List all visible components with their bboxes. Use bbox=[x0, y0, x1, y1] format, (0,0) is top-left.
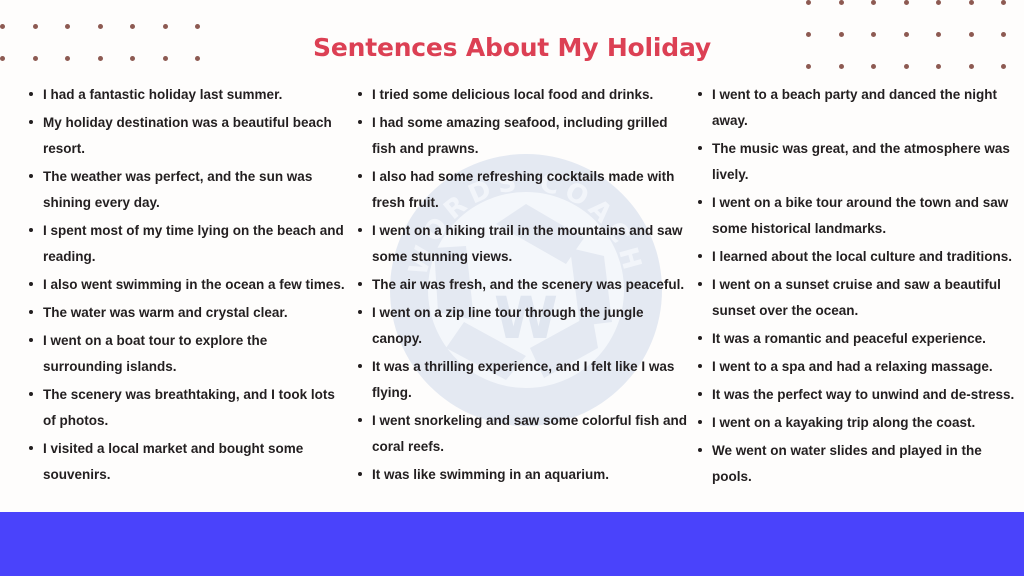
decorative-dot bbox=[163, 24, 168, 29]
decorative-dot bbox=[0, 24, 5, 29]
decorative-dot bbox=[871, 0, 876, 5]
sentence-item: I went snorkeling and saw some colorful … bbox=[355, 408, 691, 460]
sentence-column-3: I went to a beach party and danced the n… bbox=[695, 82, 1024, 492]
sentence-text: I went to a spa and had a relaxing massa… bbox=[712, 359, 993, 374]
bullet-icon bbox=[358, 364, 362, 368]
bullet-icon bbox=[698, 146, 702, 150]
sentence-item: We went on water slides and played in th… bbox=[695, 438, 1018, 490]
bullet-icon bbox=[698, 254, 702, 258]
sentence-item: I had a fantastic holiday last summer. bbox=[26, 82, 349, 108]
bullet-icon bbox=[29, 338, 33, 342]
poster-canvas: W WORDS COACH Sentences About My Holiday… bbox=[0, 0, 1024, 576]
page-title: Sentences About My Holiday bbox=[0, 33, 1024, 62]
decorative-dot bbox=[65, 24, 70, 29]
sentence-item: I went on a boat tour to explore the sur… bbox=[26, 328, 349, 380]
decorative-dot bbox=[1001, 0, 1006, 5]
sentence-text: I went on a sunset cruise and saw a beau… bbox=[712, 277, 1001, 318]
sentence-text: I went to a beach party and danced the n… bbox=[712, 87, 997, 128]
sentence-text: I had a fantastic holiday last summer. bbox=[43, 87, 282, 102]
sentence-item: I went on a sunset cruise and saw a beau… bbox=[695, 272, 1018, 324]
sentence-text: I also went swimming in the ocean a few … bbox=[43, 277, 345, 292]
bullet-icon bbox=[29, 120, 33, 124]
bullet-icon bbox=[698, 392, 702, 396]
decorative-dot bbox=[969, 0, 974, 5]
bullet-icon bbox=[698, 448, 702, 452]
sentence-text: I went on a hiking trail in the mountain… bbox=[372, 223, 683, 264]
bullet-icon bbox=[29, 228, 33, 232]
sentence-text: It was like swimming in an aquarium. bbox=[372, 467, 609, 482]
sentence-item: The music was great, and the atmosphere … bbox=[695, 136, 1018, 188]
decorative-dot bbox=[130, 24, 135, 29]
sentence-text: The weather was perfect, and the sun was… bbox=[43, 169, 312, 210]
decorative-dot bbox=[1001, 64, 1006, 69]
footer-bar: www.wordscoach.com bbox=[0, 512, 1024, 576]
sentence-column-2: I tried some delicious local food and dr… bbox=[355, 82, 695, 490]
bullet-icon bbox=[358, 228, 362, 232]
sentence-columns: I had a fantastic holiday last summer.My… bbox=[0, 82, 1024, 510]
sentence-item: I went to a spa and had a relaxing massa… bbox=[695, 354, 1018, 380]
decorative-dot bbox=[195, 24, 200, 29]
decorative-dot bbox=[936, 0, 941, 5]
sentence-item: I went to a beach party and danced the n… bbox=[695, 82, 1018, 134]
bullet-icon bbox=[358, 310, 362, 314]
bullet-icon bbox=[29, 446, 33, 450]
bullet-icon bbox=[29, 282, 33, 286]
bullet-icon bbox=[698, 420, 702, 424]
sentence-text: We went on water slides and played in th… bbox=[712, 443, 982, 484]
sentence-item: The scenery was breathtaking, and I took… bbox=[26, 382, 349, 434]
sentence-text: I went on a boat tour to explore the sur… bbox=[43, 333, 267, 374]
sentence-text: I went on a zip line tour through the ju… bbox=[372, 305, 643, 346]
bullet-icon bbox=[698, 364, 702, 368]
sentence-item: The weather was perfect, and the sun was… bbox=[26, 164, 349, 216]
sentence-item: The water was warm and crystal clear. bbox=[26, 300, 349, 326]
decorative-dot bbox=[839, 64, 844, 69]
sentence-text: The music was great, and the atmosphere … bbox=[712, 141, 1010, 182]
sentence-text: I also had some refreshing cocktails mad… bbox=[372, 169, 674, 210]
sentence-item: It was a romantic and peaceful experienc… bbox=[695, 326, 1018, 352]
sentence-text: I visited a local market and bought some… bbox=[43, 441, 303, 482]
sentence-text: I spent most of my time lying on the bea… bbox=[43, 223, 344, 264]
sentence-text: It was a romantic and peaceful experienc… bbox=[712, 331, 986, 346]
sentence-item: It was a thrilling experience, and I fel… bbox=[355, 354, 691, 406]
decorative-dot bbox=[98, 24, 103, 29]
sentence-item: It was like swimming in an aquarium. bbox=[355, 462, 691, 488]
bullet-icon bbox=[698, 336, 702, 340]
sentence-list-1: I had a fantastic holiday last summer.My… bbox=[26, 82, 349, 488]
bullet-icon bbox=[698, 92, 702, 96]
decorative-dot bbox=[871, 64, 876, 69]
bullet-icon bbox=[29, 310, 33, 314]
decorative-dot bbox=[806, 0, 811, 5]
sentence-text: I learned about the local culture and tr… bbox=[712, 249, 1012, 264]
bullet-icon bbox=[358, 120, 362, 124]
bullet-icon bbox=[358, 418, 362, 422]
sentence-item: I went on a hiking trail in the mountain… bbox=[355, 218, 691, 270]
bullet-icon bbox=[358, 282, 362, 286]
bullet-icon bbox=[358, 472, 362, 476]
sentence-item: I went on a kayaking trip along the coas… bbox=[695, 410, 1018, 436]
sentence-text: I went snorkeling and saw some colorful … bbox=[372, 413, 687, 454]
decorative-dot bbox=[33, 24, 38, 29]
sentence-text: It was the perfect way to unwind and de-… bbox=[712, 387, 1014, 402]
sentence-item: I went on a bike tour around the town an… bbox=[695, 190, 1018, 242]
sentence-text: It was a thrilling experience, and I fel… bbox=[372, 359, 674, 400]
decorative-dot bbox=[806, 64, 811, 69]
sentence-text: My holiday destination was a beautiful b… bbox=[43, 115, 332, 156]
bullet-icon bbox=[29, 392, 33, 396]
sentence-text: The water was warm and crystal clear. bbox=[43, 305, 288, 320]
bullet-icon bbox=[29, 174, 33, 178]
sentence-text: I went on a bike tour around the town an… bbox=[712, 195, 1008, 236]
sentence-item: I also went swimming in the ocean a few … bbox=[26, 272, 349, 298]
sentence-item: The air was fresh, and the scenery was p… bbox=[355, 272, 691, 298]
bullet-icon bbox=[358, 174, 362, 178]
decorative-dot bbox=[904, 64, 909, 69]
sentence-text: The scenery was breathtaking, and I took… bbox=[43, 387, 335, 428]
decorative-dot bbox=[969, 64, 974, 69]
sentence-text: I tried some delicious local food and dr… bbox=[372, 87, 653, 102]
sentence-item: I went on a zip line tour through the ju… bbox=[355, 300, 691, 352]
sentence-text: I went on a kayaking trip along the coas… bbox=[712, 415, 975, 430]
sentence-list-2: I tried some delicious local food and dr… bbox=[355, 82, 691, 488]
sentence-item: I tried some delicious local food and dr… bbox=[355, 82, 691, 108]
bullet-icon bbox=[29, 92, 33, 96]
bullet-icon bbox=[358, 92, 362, 96]
sentence-column-1: I had a fantastic holiday last summer.My… bbox=[0, 82, 355, 490]
sentence-item: I had some amazing seafood, including gr… bbox=[355, 110, 691, 162]
sentence-item: It was the perfect way to unwind and de-… bbox=[695, 382, 1018, 408]
decorative-dot bbox=[839, 0, 844, 5]
sentence-item: I visited a local market and bought some… bbox=[26, 436, 349, 488]
bullet-icon bbox=[698, 200, 702, 204]
sentence-text: The air was fresh, and the scenery was p… bbox=[372, 277, 684, 292]
sentence-item: My holiday destination was a beautiful b… bbox=[26, 110, 349, 162]
sentence-item: I also had some refreshing cocktails mad… bbox=[355, 164, 691, 216]
sentence-list-3: I went to a beach party and danced the n… bbox=[695, 82, 1018, 490]
sentence-item: I learned about the local culture and tr… bbox=[695, 244, 1018, 270]
sentence-item: I spent most of my time lying on the bea… bbox=[26, 218, 349, 270]
decorative-dot bbox=[904, 0, 909, 5]
decorative-dot bbox=[936, 64, 941, 69]
bullet-icon bbox=[698, 282, 702, 286]
sentence-text: I had some amazing seafood, including gr… bbox=[372, 115, 668, 156]
